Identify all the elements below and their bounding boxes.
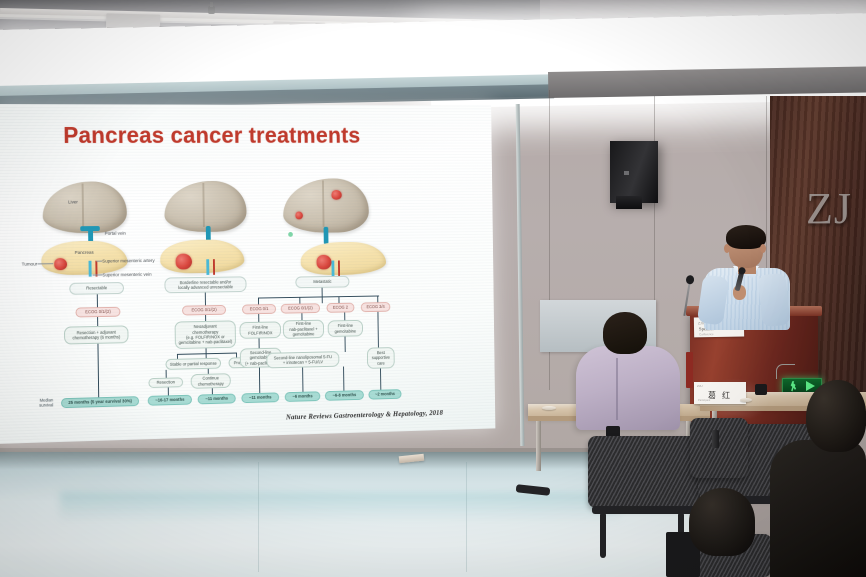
liver-illustration bbox=[164, 181, 247, 232]
flow-arrow bbox=[97, 317, 98, 326]
running-person-icon bbox=[789, 381, 797, 392]
flow-arrow bbox=[177, 353, 236, 355]
label-tumour: Tumour bbox=[22, 261, 38, 267]
speaker-ear bbox=[760, 244, 766, 253]
flow-arrow bbox=[258, 314, 259, 322]
smv-illustration bbox=[89, 261, 92, 277]
ecog-box: ECOG 0/1/(2) bbox=[182, 305, 226, 316]
flow-arrow bbox=[377, 312, 378, 348]
folder-on-table bbox=[686, 352, 693, 388]
outcome-box: ~2 months bbox=[368, 389, 401, 400]
label-pancreas: Pancreas bbox=[75, 250, 94, 256]
attendee-right-torso bbox=[770, 440, 866, 577]
tumour-illustration bbox=[176, 254, 192, 270]
smv-illustration bbox=[206, 259, 209, 275]
flow-arrow bbox=[205, 315, 206, 321]
flow-arrow bbox=[208, 369, 209, 374]
saucer-on-table bbox=[542, 406, 556, 410]
sma-illustration bbox=[338, 260, 340, 275]
projection-screen: Pancreas cancer treatments Liver Portal … bbox=[0, 104, 495, 444]
flow-arrow bbox=[345, 337, 346, 352]
attendee-front-right-head bbox=[689, 488, 755, 556]
treatment-box: First-line gemcitabine bbox=[328, 320, 363, 337]
label-sma: Superior mesenteric artery bbox=[102, 258, 155, 264]
podium-nameplate-sub: Conference bbox=[699, 332, 714, 336]
treatment-box: First-line FOLFIRINOX bbox=[239, 321, 281, 338]
sma-illustration bbox=[213, 259, 215, 275]
attendee-torso bbox=[576, 346, 680, 430]
flow-arrow bbox=[236, 353, 237, 358]
wall-speaker-icon bbox=[610, 141, 658, 203]
floor-seam bbox=[466, 462, 467, 572]
second-line-box: Second-line nanoliposomal 5-FU + irinote… bbox=[266, 351, 339, 368]
flow-arrow bbox=[377, 296, 378, 303]
liver-metastasis bbox=[331, 190, 341, 200]
flow-arrow bbox=[177, 354, 178, 359]
namecard-role: Participant bbox=[698, 399, 710, 402]
stage-box: Metastatic bbox=[295, 276, 349, 288]
treatment-box: Neoadjuvant chemotherapy (e.g. FOLFIRINO… bbox=[175, 320, 236, 349]
outcome-box: ~6 months bbox=[285, 391, 321, 402]
chair bbox=[690, 418, 748, 478]
namecard-name: 葛 红 bbox=[708, 390, 732, 401]
ecog-box: ECOG 2 bbox=[326, 303, 354, 313]
treatment-box: Best supportive care bbox=[367, 347, 395, 369]
exit-sign-bracket bbox=[776, 364, 795, 379]
pancreas-illustration bbox=[300, 242, 386, 276]
pancreas-illustration bbox=[160, 239, 244, 273]
label-liver: Liver bbox=[68, 199, 78, 205]
flow-arrow bbox=[299, 297, 300, 304]
treatment-box: Resection + adjuvant chemotherapy (6 mon… bbox=[64, 325, 129, 344]
ecog-box: ECOG 0/1/(2) bbox=[281, 303, 320, 313]
floor-seam bbox=[258, 462, 259, 572]
leader-line bbox=[37, 263, 53, 264]
conference-room-photo: ZJ Pancreas cancer treatments Liver Port… bbox=[0, 0, 866, 577]
treatment-box: First-line nab-paclitaxel + gemcitabine bbox=[283, 320, 324, 339]
table-namecard: ZJU 葛 红 Participant bbox=[694, 382, 746, 404]
ceiling-camera-icon bbox=[208, 6, 215, 14]
attendee-head bbox=[603, 312, 647, 354]
outcome-box: ~11 months bbox=[241, 392, 279, 403]
stage-box: Resectable bbox=[69, 282, 124, 295]
floor-reflection bbox=[60, 492, 620, 522]
wall-sign-zj: ZJ bbox=[806, 183, 852, 234]
ecog-box: ECOG 3/4 bbox=[361, 302, 391, 312]
outcome-box: ~6-8 months bbox=[325, 390, 364, 401]
flow-arrow bbox=[166, 370, 167, 378]
chair-leg bbox=[600, 512, 606, 558]
flow-arrow bbox=[259, 338, 260, 348]
namecard-org: ZJU bbox=[697, 384, 703, 388]
flow-arrow bbox=[344, 312, 345, 320]
flow-arrow bbox=[168, 387, 169, 395]
tumour-illustration bbox=[317, 255, 332, 270]
bottle-on-table bbox=[712, 430, 719, 448]
flow-arrow bbox=[97, 294, 98, 307]
metastasis-marker bbox=[288, 232, 293, 237]
exit-arrow-icon bbox=[806, 381, 815, 391]
upper-wall-band-right bbox=[548, 66, 866, 98]
response-box: Stable or partial response bbox=[165, 358, 221, 370]
liver-illustration bbox=[283, 178, 369, 233]
median-survival-label: Median survival bbox=[26, 397, 54, 408]
flow-arrow bbox=[205, 293, 206, 306]
label-portal-vein: Portal vein bbox=[105, 231, 126, 237]
leader-line bbox=[96, 261, 102, 262]
flow-arrow bbox=[259, 368, 260, 393]
speaker-ear bbox=[724, 244, 730, 253]
slide-citation: Nature Reviews Gastroenterology & Hepato… bbox=[286, 409, 443, 421]
flow-arrow bbox=[380, 369, 381, 390]
flow-arrow bbox=[338, 296, 339, 303]
flow-arrow bbox=[212, 388, 213, 394]
smv-illustration bbox=[331, 261, 334, 276]
flow-arrow bbox=[302, 368, 303, 392]
resection-box: Resection bbox=[148, 377, 183, 388]
chair bbox=[588, 436, 700, 508]
outcome-box: ~16-17 months bbox=[148, 395, 192, 406]
object-on-table bbox=[755, 384, 767, 395]
flow-arrow bbox=[258, 298, 259, 305]
outcome-box: ~11 months bbox=[198, 394, 236, 405]
flow-arrow bbox=[343, 367, 344, 391]
flow-arrow bbox=[97, 344, 99, 397]
wall-speaker-mount bbox=[616, 196, 642, 209]
ecog-box: ECOG 0/1/(2) bbox=[75, 307, 120, 318]
outcome-box: 25 months (5 year survival 30%) bbox=[61, 396, 139, 408]
slide-title: Pancreas cancer treatments bbox=[63, 122, 360, 149]
tumour-illustration bbox=[54, 258, 67, 270]
liver-metastasis bbox=[295, 212, 303, 220]
continue-chemo-box: Continue chemotherapy bbox=[191, 373, 231, 389]
flow-arrow bbox=[258, 296, 379, 299]
speaker-arm-right bbox=[757, 273, 790, 328]
portal-vein bbox=[324, 227, 329, 244]
stage-box: Borderline resectable and/or locally adv… bbox=[164, 276, 246, 293]
table-leg bbox=[536, 421, 541, 471]
saucer-on-table bbox=[740, 398, 752, 402]
attendee-right-head bbox=[806, 380, 866, 452]
ecog-box: ECOG 0/1 bbox=[242, 304, 276, 314]
flow-arrow bbox=[301, 313, 302, 320]
label-smv: Superior mesenteric vein bbox=[102, 272, 151, 278]
leader-line bbox=[93, 274, 103, 275]
